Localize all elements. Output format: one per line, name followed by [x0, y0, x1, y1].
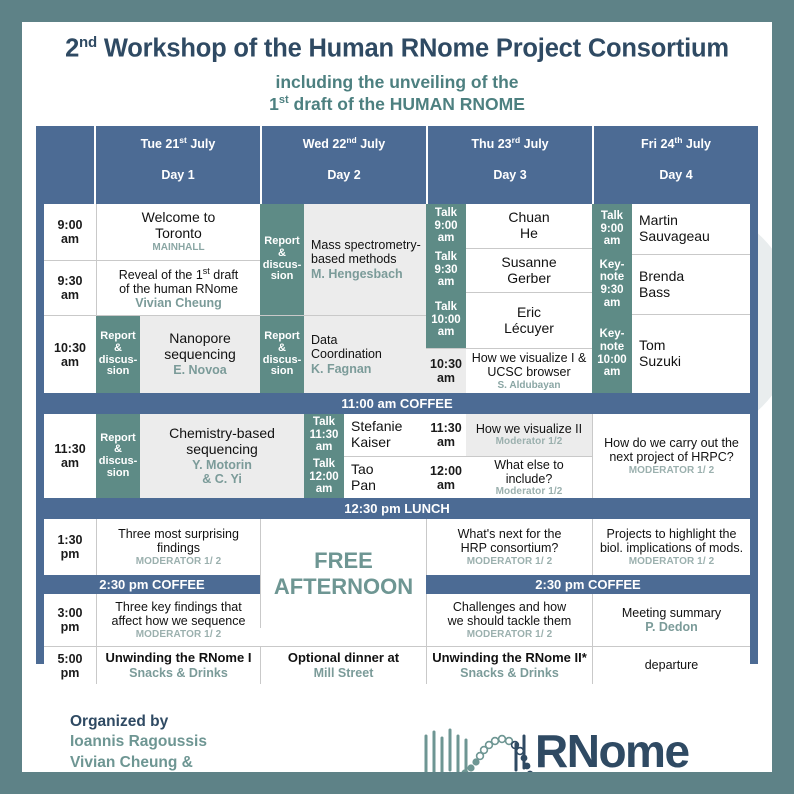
- session-day1-1030[interactable]: Nanopore sequencing E. Novoa: [140, 315, 260, 393]
- session-title-line1: How we visualize II: [476, 422, 582, 436]
- session-title-line1: Tom: [639, 338, 665, 354]
- day-header-date-3: Thu 23rd July: [471, 135, 548, 151]
- session-title-line2: Coordination: [311, 347, 382, 361]
- talk-label-day2-1130: Talk11:30am: [304, 414, 344, 456]
- session-title-line2: biol. implications of mods.: [600, 541, 743, 555]
- session-title-line1: Chemistry-based: [169, 426, 275, 442]
- session-moderator: Moderator 1/2: [496, 436, 563, 447]
- session-moderator: MODERATOR 1/ 2: [467, 629, 553, 640]
- organizer-1: Ioannis Ragoussis: [70, 732, 354, 752]
- time-slot-1130-day3: 11:30am: [426, 414, 466, 456]
- day-header-label-1: Day 1: [161, 168, 194, 182]
- keynote-label-day4-1000: Key-note10:00am: [592, 314, 632, 393]
- day-header-label-3: Day 3: [493, 168, 526, 182]
- session-title-line2: Bass: [639, 285, 670, 301]
- session-day4-130[interactable]: Projects to highlight the biol. implicat…: [592, 519, 750, 575]
- time-slot-930-day1: 9:30am: [44, 260, 96, 315]
- session-title-line1: Tao: [351, 462, 374, 478]
- subtitle-line-1: including the unveiling of the: [22, 72, 772, 93]
- session-day3-1200[interactable]: What else to include? Moderator 1/2: [466, 456, 592, 498]
- title-part-2: Workshop of the Human RNome Project Cons…: [97, 35, 729, 63]
- session-title-line1: Mass spectrometry-: [311, 238, 421, 252]
- time-slot-500-day1: 5:00pm: [44, 646, 96, 684]
- report-discussion-day1-1030[interactable]: Report&discus-sion: [96, 315, 140, 393]
- session-title-line2: next project of HRPC?: [609, 450, 733, 464]
- session-title-line1: What else to include?: [470, 458, 588, 487]
- session-subtitle: Mill Street: [314, 666, 374, 680]
- title-part-1: 2: [65, 35, 79, 63]
- session-day3-300[interactable]: Challenges and how we should tackle them…: [426, 594, 592, 646]
- session-title-line1: Stefanie: [351, 419, 402, 435]
- session-day4-1130[interactable]: How do we carry out the next project of …: [592, 414, 750, 498]
- session-title-line2: Pan: [351, 478, 376, 494]
- session-moderator: Moderator 1/2: [496, 486, 563, 497]
- session-day3-930[interactable]: Susanne Gerber: [466, 248, 592, 292]
- session-title-line1: Optional dinner at: [288, 651, 399, 666]
- report-discussion-day2-900[interactable]: Report&discus-sion: [260, 204, 304, 315]
- session-day4-900[interactable]: Martin Sauvageau: [632, 204, 750, 254]
- session-title-line2: findings: [157, 541, 200, 555]
- session-title-line2: Kaiser: [351, 435, 391, 451]
- session-title-line1: Meeting summary: [622, 606, 721, 620]
- session-title-line2: HRP consortium?: [461, 541, 559, 555]
- session-speaker: Vivian Cheung: [135, 296, 222, 310]
- schedule-table: Tue 21st July Day 1 Wed 22nd July Day 2 …: [36, 126, 758, 664]
- session-day3-1030[interactable]: How we visualize I & UCSC browser S. Ald…: [466, 348, 592, 393]
- time-slot-1200-day3: 12:00am: [426, 456, 466, 498]
- session-title-line2: Suzuki: [639, 354, 681, 370]
- session-title-line1: Three most surprising: [118, 527, 239, 541]
- session-moderator: MODERATOR 1/ 2: [136, 629, 222, 640]
- day-header-4: Fri 24th July Day 4: [592, 126, 758, 204]
- free-afternoon-line2: AFTERNOON: [274, 574, 413, 599]
- subtitle2-part-1: 1: [269, 94, 279, 114]
- session-speaker: K. Fagnan: [311, 362, 371, 376]
- session-title-line1: Challenges and how: [453, 600, 566, 614]
- time-slot-900-day1: 9:00am: [44, 204, 96, 260]
- lunch-break-1230: 12:30 pm LUNCH: [36, 498, 758, 519]
- session-moderator: MODERATOR 1/ 2: [629, 556, 715, 567]
- day-header-2: Wed 22nd July Day 2: [260, 126, 426, 204]
- session-day2-900[interactable]: Mass spectrometry- based methods M. Heng…: [304, 204, 426, 315]
- poster: 2nd Workshop of the Human RNome Project …: [22, 22, 772, 772]
- subtitle-line-2: 1st draft of the HUMAN RNOME: [22, 94, 772, 115]
- session-day1-930[interactable]: Reveal of the 1st draft of the human RNo…: [96, 260, 260, 315]
- session-title-line2: of the human RNome: [119, 282, 238, 296]
- session-day3-130[interactable]: What's next for the HRP consortium? MODE…: [426, 519, 592, 575]
- talk-label-day2-1200: Talk12:00am: [304, 456, 344, 498]
- session-day1-500[interactable]: Unwinding the RNome I Snacks & Drinks: [96, 646, 260, 684]
- session-title-line1: Susanne: [501, 255, 556, 271]
- session-venue: MAINHALL: [152, 242, 204, 253]
- day-header-date-4: Fri 24th July: [641, 135, 711, 151]
- session-subtitle: Snacks & Drinks: [129, 666, 228, 680]
- day-header-date-2: Wed 22nd July: [303, 135, 385, 151]
- free-afternoon-day2: FREE AFTERNOON: [260, 519, 426, 628]
- page-title: 2nd Workshop of the Human RNome Project …: [22, 34, 772, 64]
- day-header-label-2: Day 2: [327, 168, 360, 182]
- session-day3-500[interactable]: Unwinding the RNome II* Snacks & Drinks: [426, 646, 592, 684]
- session-speaker-1: Y. Motorin: [192, 458, 252, 472]
- session-title-line2: affect how we sequence: [112, 614, 246, 628]
- session-day1-300[interactable]: Three key findings that affect how we se…: [96, 594, 260, 646]
- session-title-line1: What's next for the: [458, 527, 562, 541]
- session-title-line1: How we visualize I &: [472, 351, 587, 365]
- time-slot-1030-day3: 10:30am: [426, 348, 466, 393]
- title-ordinal-suffix: nd: [79, 34, 97, 51]
- session-title-line1: Welcome to: [142, 210, 216, 226]
- session-title-line1: Projects to highlight the: [607, 527, 737, 541]
- time-slot-1130-day1: 11:30am: [44, 414, 96, 498]
- coffee-break-230-left: 2:30 pm COFFEE: [44, 575, 260, 594]
- keynote-label-day4-930: Key-note9:30am: [592, 254, 632, 314]
- session-title-line1: Eric: [517, 305, 541, 321]
- session-day4-500[interactable]: departure: [592, 646, 750, 684]
- session-day4-1000[interactable]: Tom Suzuki: [632, 314, 750, 393]
- talk-label-day3-930: Talk9:30am: [426, 248, 466, 292]
- talk-label-day4-900: Talk9:00am: [592, 204, 632, 254]
- session-title-line1: Chuan: [508, 210, 549, 226]
- session-speaker: S. Aldubayan: [498, 380, 561, 391]
- session-subtitle: Snacks & Drinks: [460, 666, 559, 680]
- session-title-line1: Unwinding the RNome II*: [432, 651, 587, 666]
- session-title-line2: we should tackle them: [448, 614, 572, 628]
- session-moderator: MODERATOR 1/ 2: [467, 556, 553, 567]
- coffee-break-230-right: 2:30 pm COFFEE: [426, 575, 750, 594]
- session-day1-1130[interactable]: Chemistry-based sequencing Y. Motorin & …: [140, 414, 304, 498]
- session-title-line2: sequencing: [186, 442, 258, 458]
- coffee-break-1100: 11:00 am COFFEE: [36, 393, 758, 414]
- session-day2-500[interactable]: Optional dinner at Mill Street: [260, 646, 426, 684]
- subtitle2-part-2: draft of the HUMAN RNOME: [289, 94, 525, 114]
- session-day2-1030[interactable]: Data Coordination K. Fagnan: [304, 315, 426, 393]
- session-speaker: P. Dedon: [645, 620, 698, 634]
- session-day1-900[interactable]: Welcome to Toronto MAINHALL: [96, 204, 260, 260]
- talk-label-day3-900: Talk9:00am: [426, 204, 466, 248]
- day-header-label-4: Day 4: [659, 168, 692, 182]
- rnome-logo-text: RNome: [535, 724, 689, 772]
- session-title-line2: Lécuyer: [504, 321, 554, 337]
- session-title-line1: Nanopore: [169, 331, 231, 347]
- session-day2-1200[interactable]: Tao Pan: [344, 456, 426, 498]
- organized-by-label: Organized by: [70, 712, 354, 732]
- session-title-line1: Unwinding the RNome I: [106, 651, 252, 666]
- session-day4-930[interactable]: Brenda Bass: [632, 254, 750, 314]
- report-discussion-day2-1030[interactable]: Report&discus-sion: [260, 315, 304, 393]
- session-title-line1: Brenda: [639, 269, 684, 285]
- session-day3-1000[interactable]: Eric Lécuyer: [466, 292, 592, 348]
- session-title-line1: Data: [311, 333, 337, 347]
- session-title-line2: Sauvageau: [639, 229, 710, 245]
- day-header-3: Thu 23rd July Day 3: [426, 126, 592, 204]
- time-slot-1030-day1: 10:30am: [44, 315, 96, 393]
- session-title-line1: How do we carry out the: [604, 436, 739, 450]
- session-title-line1: Martin: [639, 213, 678, 229]
- free-afternoon-line1: FREE: [314, 548, 373, 573]
- session-title-line1: Three key findings that: [115, 600, 241, 614]
- session-speaker-2: & C. Yi: [202, 472, 242, 486]
- session-title-line1: departure: [645, 658, 699, 672]
- session-day2-1130[interactable]: Stefanie Kaiser: [344, 414, 426, 456]
- session-day1-130[interactable]: Three most surprising findings MODERATOR…: [96, 519, 260, 575]
- session-moderator: MODERATOR 1/ 2: [136, 556, 222, 567]
- talk-label-day3-1000: Talk10:00am: [426, 292, 466, 348]
- subtitle2-ordinal-suffix: st: [279, 94, 289, 106]
- session-day3-900[interactable]: Chuan He: [466, 204, 592, 248]
- session-title-line2: Gerber: [507, 271, 551, 287]
- session-title-line2: He: [520, 226, 538, 242]
- session-day3-1130[interactable]: How we visualize II Moderator 1/2: [466, 414, 592, 456]
- session-speaker: E. Novoa: [173, 363, 227, 377]
- session-moderator: MODERATOR 1/ 2: [629, 465, 715, 476]
- session-title-line2: sequencing: [164, 347, 236, 363]
- time-slot-130-day1: 1:30pm: [44, 519, 96, 575]
- day-header-1: Tue 21st July Day 1: [94, 126, 260, 204]
- session-title-line2: based methods: [311, 252, 396, 266]
- session-title-line2: Toronto: [155, 226, 202, 242]
- organizers-block: Organized by Ioannis Ragoussis Vivian Ch…: [70, 712, 354, 772]
- organizer-2: Vivian Cheung &: [70, 753, 354, 772]
- day-header-date-1: Tue 21st July: [141, 135, 216, 151]
- session-day4-300[interactable]: Meeting summary P. Dedon: [592, 594, 750, 646]
- session-title-line2: UCSC browser: [487, 365, 570, 379]
- time-slot-300-day1: 3:00pm: [44, 594, 96, 646]
- session-speaker: M. Hengesbach: [311, 267, 403, 281]
- report-discussion-day1-1130[interactable]: Report&discus-sion: [96, 414, 140, 498]
- session-title-line1: Reveal of the 1st draft: [119, 266, 239, 282]
